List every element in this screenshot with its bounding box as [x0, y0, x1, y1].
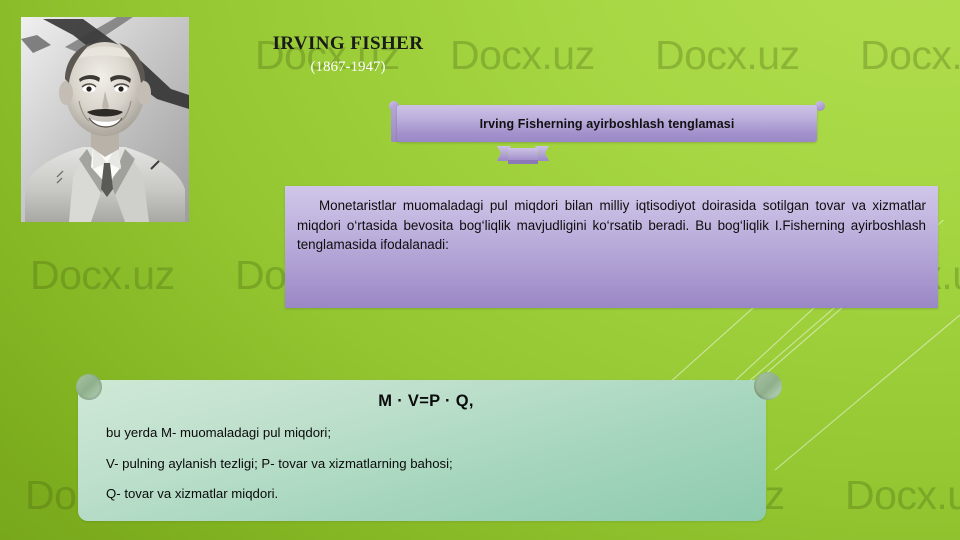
slide-canvas: Docx.uzDocx.uzDocx.uzDocx.uzDocx.uzDocx.…	[0, 0, 960, 540]
watermark-text: Docx.uz	[860, 32, 960, 79]
scroll-curl-left-icon	[76, 374, 102, 400]
portrait-image	[21, 17, 189, 222]
watermark-text: Docx.uz	[845, 472, 960, 519]
description-panel: Monetaristlar muomaladagi pul miqdori bi…	[285, 186, 938, 308]
watermark-text: Docx.uz	[655, 32, 800, 79]
legend-line-2: V- pulning aylanish tezligi; P- tovar va…	[106, 456, 746, 473]
ribbon-plate: Irving Fisherning ayirboshlash tenglamas…	[397, 105, 817, 142]
portrait-photo	[21, 17, 189, 222]
page-title: IRVING FISHER	[228, 34, 468, 55]
formula-text: M · V=P · Q,	[106, 392, 746, 411]
scroll-paper: M · V=P · Q, bu yerda M- muomaladagi pul…	[78, 380, 766, 521]
slide-heading: IRVING FISHER (1867-1947)	[228, 34, 558, 76]
page-subtitle: (1867-1947)	[228, 58, 468, 76]
description-text: Monetaristlar muomaladagi pul miqdori bi…	[297, 196, 926, 255]
ribbon-banner: Irving Fisherning ayirboshlash tenglamas…	[389, 101, 825, 171]
formula-panel: M · V=P · Q, bu yerda M- muomaladagi pul…	[66, 371, 766, 521]
scroll-curl-right-icon	[754, 372, 782, 400]
watermark-text: Docx.uz	[30, 252, 175, 299]
ribbon-label: Irving Fisherning ayirboshlash tenglamas…	[480, 117, 735, 131]
ribbon-tail-icon	[497, 146, 549, 166]
legend-line-3: Q- tovar va xizmatlar miqdori.	[106, 486, 746, 503]
legend-line-1: bu yerda M- muomaladagi pul miqdori;	[106, 425, 746, 442]
